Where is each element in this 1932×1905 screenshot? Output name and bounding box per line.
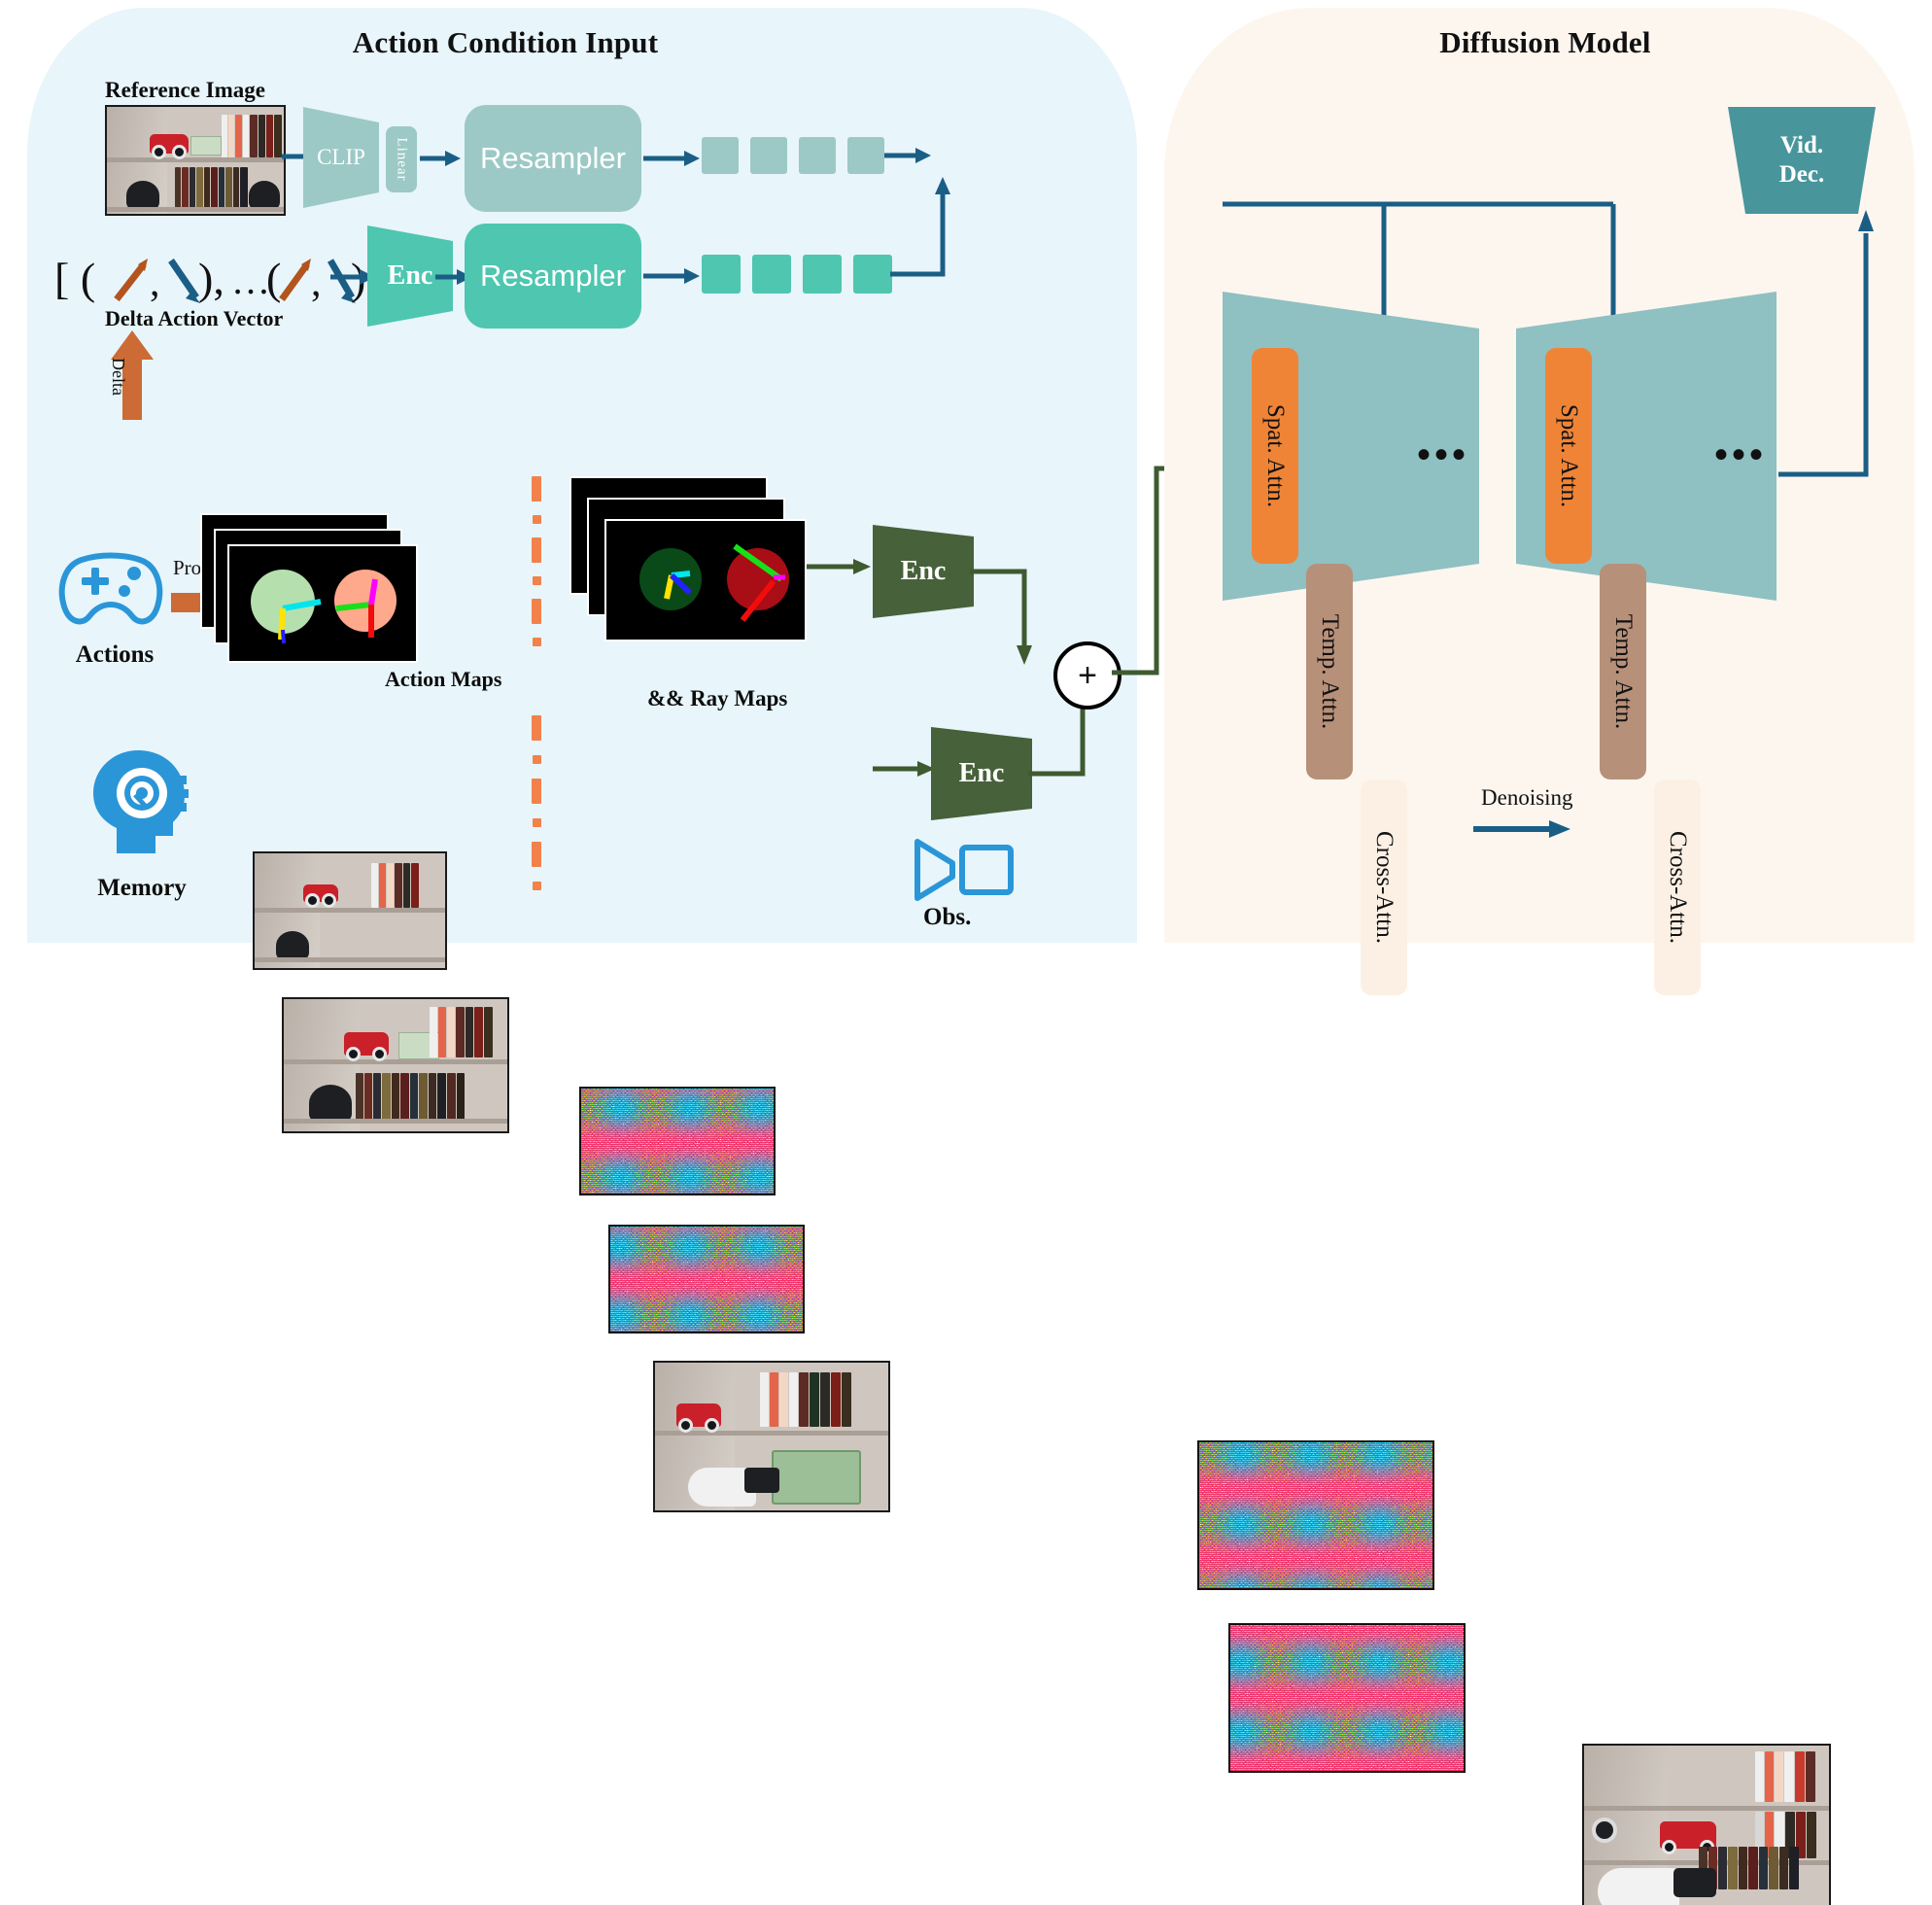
divider-action-raymaps [529, 476, 544, 690]
svg-text:[ (: [ ( [54, 254, 95, 303]
temp-attn-up: Temp. Attn. [1600, 564, 1646, 779]
denoise-input-noise-back [1197, 1440, 1434, 1590]
memory-photo-front [282, 997, 509, 1133]
image-token-1 [702, 137, 739, 174]
action-map-rays-2 [323, 562, 410, 649]
arrow-resampler-to-image-tokens [643, 146, 700, 171]
spat-attn-down: Spat. Attn. [1252, 348, 1298, 564]
delta-arrow-label-wrap: Delta [128, 330, 157, 389]
right-panel-title: Diffusion Model [1351, 25, 1740, 60]
route-enc-raymap-to-sum [970, 564, 1073, 671]
denoise-input-noise-front [1228, 1623, 1466, 1773]
resampler-action-block: Resampler [465, 224, 641, 329]
reference-image-photo [105, 105, 286, 216]
spat-attn-down-label: Spat. Attn. [1261, 404, 1289, 507]
arrow-raymaps-to-enc [807, 554, 871, 579]
brain-head-icon [87, 746, 190, 857]
denoised-output-photo [1582, 1744, 1831, 1905]
action-token-1 [702, 255, 741, 294]
clip-label: CLIP [317, 145, 365, 170]
image-token-4 [847, 137, 884, 174]
spat-attn-up-label: Spat. Attn. [1555, 404, 1582, 507]
denoising-arrow [1473, 816, 1570, 842]
temp-attn-down: Temp. Attn. [1306, 564, 1353, 779]
enc-action-label: Enc [388, 260, 433, 292]
ray-maps-label: && Ray Maps [647, 686, 787, 711]
reference-image-label: Reference Image [105, 78, 265, 103]
cross-attn-down-label: Cross-Attn. [1370, 831, 1397, 944]
arrow-resampler-to-action-tokens [643, 263, 700, 289]
video-decoder-block: Vid. Dec. [1728, 107, 1876, 214]
ray-maps-stack [569, 476, 812, 671]
svg-text:,: , [150, 260, 160, 305]
enc-raymap-block: Enc [873, 525, 974, 618]
action-token-2 [752, 255, 791, 294]
resampler-image-label: Resampler [480, 141, 626, 176]
video-decoder-line1: Vid. [1780, 132, 1823, 159]
enc-obs-block: Enc [931, 727, 1032, 820]
route-action-tokens-to-sum [890, 173, 1007, 286]
arrow-image-tokens-to-sum [884, 144, 931, 167]
obs-noise-frame-2 [608, 1225, 805, 1333]
spat-attn-up: Spat. Attn. [1545, 348, 1592, 564]
action-map-frame-1 [227, 544, 418, 663]
svg-text:,: , [311, 260, 322, 305]
temp-attn-down-label: Temp. Attn. [1316, 614, 1343, 729]
enc-raymap-label: Enc [901, 556, 947, 587]
ray-map-rays-2 [713, 538, 807, 636]
gamepad-icon [56, 552, 165, 632]
unet-down-block: Spat. Attn. Temp. Attn. Cross-Attn. ••• [1223, 292, 1479, 601]
actions-label: Actions [56, 641, 173, 669]
svg-text:…: … [231, 259, 270, 302]
cross-attn-down: Cross-Attn. [1361, 779, 1407, 995]
temp-attn-up-label: Temp. Attn. [1609, 614, 1637, 729]
resampler-action-label: Resampler [480, 259, 626, 294]
sum-node-bottom-symbol: + [1078, 659, 1097, 692]
unet-down-ellipsis: ••• [1417, 433, 1469, 477]
left-panel-title: Action Condition Input [321, 25, 690, 60]
action-token-4 [853, 255, 892, 294]
denoising-label: Denoising [1481, 785, 1573, 811]
cross-attn-up: Cross-Attn. [1654, 779, 1701, 995]
svg-text:(: ( [266, 254, 281, 303]
linear-label: Linear [394, 137, 410, 181]
ray-map-rays-1 [639, 548, 717, 626]
enc-obs-label: Enc [959, 758, 1005, 789]
divider-memory-obs [529, 715, 544, 939]
obs-photo-frame-1 [653, 1361, 890, 1512]
video-decoder-line2: Dec. [1779, 161, 1825, 189]
ray-map-frame-1 [604, 519, 807, 641]
action-maps-label: Action Maps [385, 667, 501, 692]
delta-action-vector-caption: Delta Action Vector [105, 306, 283, 331]
unet-up-block: Spat. Attn. Temp. Attn. Cross-Attn. ••• [1516, 292, 1777, 601]
camera-icon [914, 838, 1015, 902]
unet-up-ellipsis: ••• [1714, 433, 1767, 477]
linear-projection-block: Linear [386, 126, 417, 192]
memory-label: Memory [82, 875, 202, 902]
route-unet-to-video-decoder [1767, 200, 1893, 482]
image-token-2 [750, 137, 787, 174]
clip-encoder-block: CLIP [303, 107, 379, 208]
delta-arrow-label: Delta [108, 358, 128, 396]
arrow-obs-to-enc [873, 756, 935, 781]
svg-text:),: ), [198, 254, 224, 303]
arrow-linear-to-resampler [420, 146, 461, 171]
action-maps-stack [200, 513, 414, 659]
action-map-rays-1 [251, 570, 328, 647]
cross-attn-up-label: Cross-Attn. [1664, 831, 1691, 944]
resampler-image-block: Resampler [465, 105, 641, 212]
image-token-3 [799, 137, 836, 174]
action-token-3 [803, 255, 842, 294]
obs-noise-frame-3 [579, 1087, 776, 1195]
obs-label: Obs. [923, 904, 971, 931]
delta-action-vector-expression: [ ( , ), … ( , )] [54, 243, 365, 311]
